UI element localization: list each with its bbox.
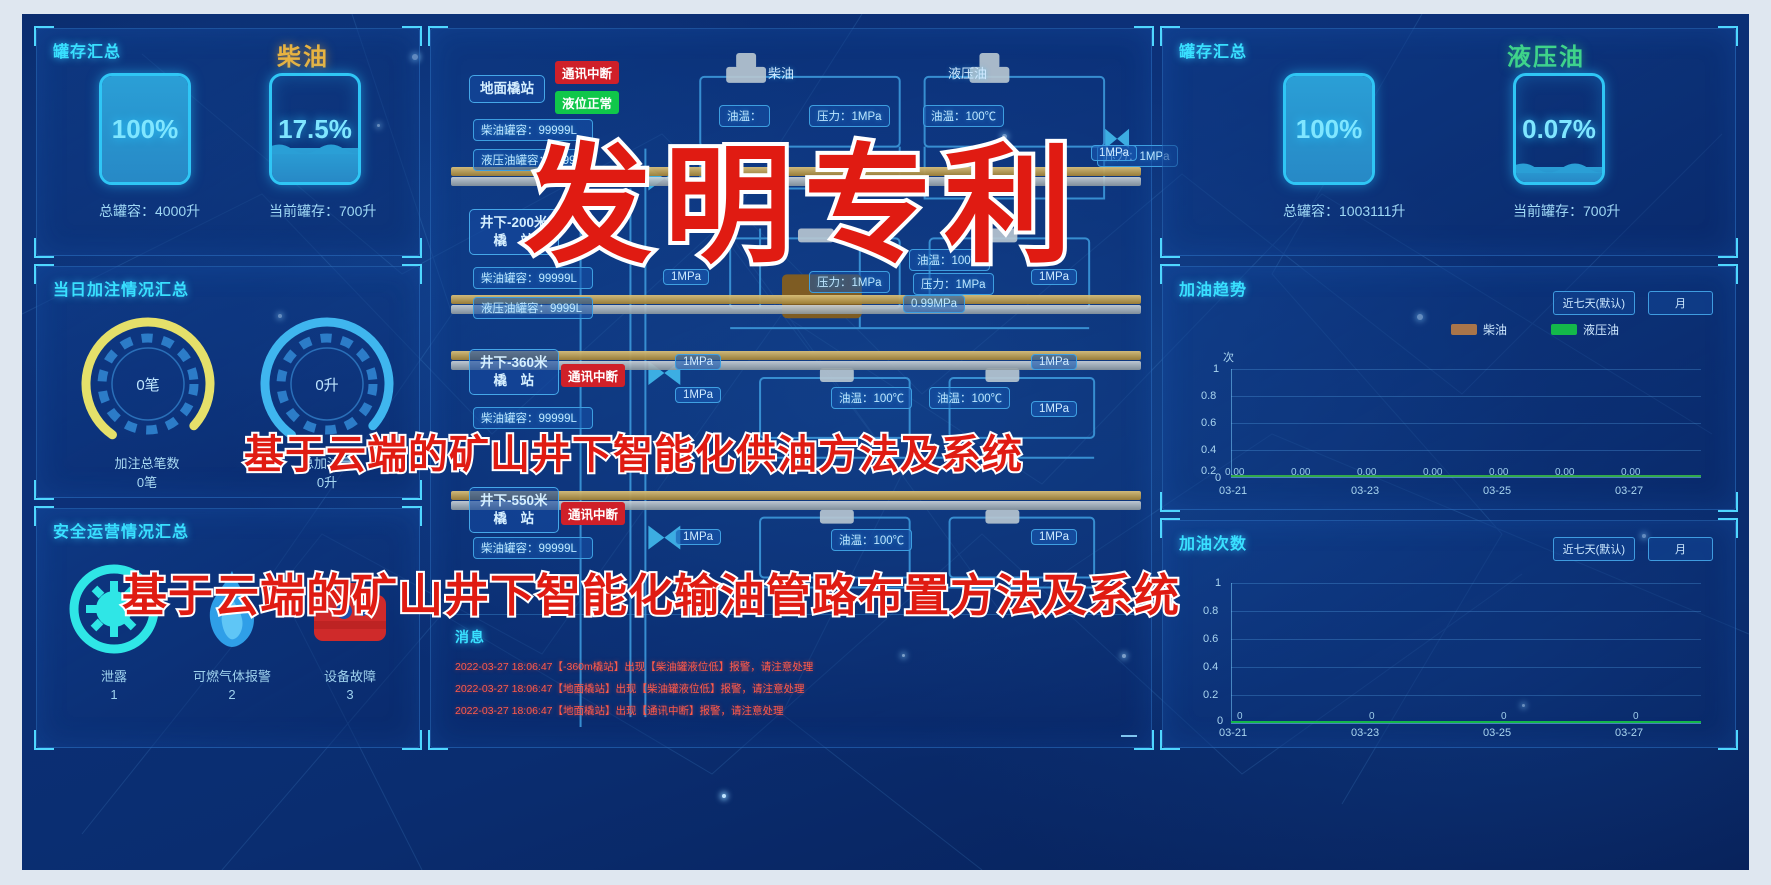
corner-decor [1160, 264, 1180, 284]
gridline [1231, 639, 1701, 640]
current-tank-gauge: 0.07% [1513, 73, 1605, 185]
station-tank-3-0: 柴油罐容：99999L [473, 537, 593, 559]
gridline [1231, 423, 1701, 424]
pressure-chip: 1MPa [675, 529, 721, 545]
range-button-month[interactable]: 月 [1648, 537, 1713, 561]
pressure-chip: 1MPa [675, 387, 721, 403]
corner-decor [402, 26, 422, 46]
corner-decor [402, 238, 422, 258]
corner-decor [1718, 518, 1738, 538]
legend-hydraulic[interactable]: 液压油 [1551, 321, 1619, 338]
total-tank-caption: 总罐容：1003111升 [1283, 201, 1405, 221]
safety-label: 设备故障 [295, 666, 405, 685]
message-row[interactable]: 2022-03-27 18:06:47【地面橇站】出现【通讯中断】报警，请注意处… [455, 703, 784, 718]
y-axis-line [1231, 369, 1232, 477]
y-axis-line [1231, 583, 1232, 723]
point-label: 0 [1501, 711, 1507, 722]
trend-plot-area [1231, 369, 1701, 477]
x-tick: 03-25 [1483, 485, 1511, 497]
pressure-chip: 1MPa [675, 354, 721, 370]
corner-decor [1718, 730, 1738, 750]
refuel-count-label: 加注总笔数 0笔 [57, 455, 237, 493]
current-tank-card: 0.07% 当前罐存：700升 [1513, 73, 1620, 221]
panel-title: 罐存汇总 [53, 38, 121, 62]
x-tick: 03-25 [1483, 727, 1511, 739]
y-tick: 0 [1217, 715, 1223, 727]
safety-value: 2 [177, 687, 287, 702]
current-tank-card: 17.5% 当前罐存：700升 [269, 73, 376, 221]
gridline [1231, 695, 1701, 696]
legend-label-hydraulic: 液压油 [1583, 321, 1619, 338]
x-tick: 03-23 [1351, 485, 1379, 497]
gridline [1231, 450, 1701, 451]
y-axis-title: 次 [1223, 349, 1234, 365]
station-label-surface[interactable]: 地面橇站 [469, 75, 545, 103]
corner-decor [1718, 264, 1738, 284]
corner-decor [402, 506, 422, 526]
equipment-label-hydraulic: 液压油 [941, 61, 994, 84]
refuel-count-value: 0笔 [73, 309, 223, 459]
x-tick: 03-23 [1351, 727, 1379, 739]
current-tank-percent: 17.5% [272, 76, 358, 182]
y-tick: 0.6 [1201, 417, 1216, 429]
safety-label: 可燃气体报警 [177, 666, 287, 685]
point-label: 0.00 [1291, 467, 1310, 478]
point-label: 0 [1633, 711, 1639, 722]
legend-swatch-diesel [1451, 324, 1477, 335]
panel-title: 安全运营情况汇总 [53, 518, 189, 542]
readout-pressure-5: 0.99MPa [903, 295, 965, 313]
point-label: 0.00 [1423, 467, 1442, 478]
x-tick: 03-21 [1219, 485, 1247, 497]
message-panel: 消息 2022-03-27 18:06:47【-360m橇站】出现【柴油罐液位低… [447, 614, 1137, 734]
watermark-title-line1: 基于云端的矿山井下智能化供油方法及系统 [244, 422, 1023, 480]
range-button-week[interactable]: 近七天(默认) [1553, 537, 1635, 561]
y-tick: 0 [1215, 472, 1221, 484]
pressure-chip: 1MPa [1031, 354, 1077, 370]
legend-label-diesel: 柴油 [1483, 321, 1507, 338]
right-count-panel: 加油次数 近七天(默认) 月 1 0.8 0.6 0.4 0.2 0 0 0 0… [1162, 520, 1736, 748]
point-label: 0 [1237, 711, 1243, 722]
gridline [1231, 667, 1701, 668]
range-button-month[interactable]: 月 [1648, 291, 1713, 315]
total-tank-percent: 100% [1286, 76, 1372, 182]
x-tick: 03-27 [1615, 485, 1643, 497]
message-panel-title: 消息 [455, 627, 485, 647]
current-tank-caption: 当前罐存：700升 [1513, 201, 1620, 221]
right-trend-panel: 加油趋势 近七天(默认) 月 柴油 液压油 次 1 0.8 0.6 0.4 [1162, 266, 1736, 510]
readout-oiltemp-6: 油温：100℃ [831, 529, 912, 551]
point-label: 0.00 [1621, 467, 1640, 478]
corner-decor [34, 26, 54, 46]
current-tank-caption: 当前罐存：700升 [269, 201, 376, 221]
corner-decor [34, 264, 54, 284]
total-tank-card: 100% 总罐容：4000升 [99, 73, 200, 221]
point-label: 0 [1369, 711, 1375, 722]
safety-label: 泄露 [59, 666, 169, 685]
corner-decor [1160, 26, 1180, 46]
gridline [1231, 611, 1701, 612]
point-label: 0.00 [1489, 467, 1508, 478]
count-plot-area [1231, 583, 1701, 723]
corner-decor [34, 480, 54, 500]
point-label: 0.00 [1357, 467, 1376, 478]
fuel-type-headline: 柴油 [277, 37, 329, 72]
total-tank-percent: 100% [102, 76, 188, 182]
legend-diesel[interactable]: 柴油 [1451, 321, 1507, 338]
panel-title: 当日加注情况汇总 [53, 276, 189, 300]
current-tank-gauge: 17.5% [269, 73, 361, 185]
page-root: 罐存汇总 柴油 100% 总罐容：4000升 17.5% 当前罐存：700升 [0, 0, 1771, 885]
left-safety-panel: 安全运营情况汇总 泄露 1 可 [36, 508, 420, 748]
dashboard-screen: 罐存汇总 柴油 100% 总罐容：4000升 17.5% 当前罐存：700升 [22, 14, 1749, 870]
panel-title: 加油趋势 [1179, 276, 1247, 300]
total-tank-gauge: 100% [1283, 73, 1375, 185]
panel-title: 罐存汇总 [1179, 38, 1247, 62]
pressure-chip: 1MPa [1091, 145, 1137, 161]
safety-value: 3 [295, 687, 405, 702]
station-label-360m[interactable]: 井下-360米 橇 站 [469, 349, 559, 395]
readout-oiltemp-4: 油温：100℃ [831, 387, 912, 409]
series-line-hydraulic [1231, 721, 1701, 723]
readout-oiltemp-5: 油温：100℃ [929, 387, 1010, 409]
total-tank-card: 100% 总罐容：1003111升 [1283, 73, 1405, 221]
collapse-icon[interactable] [1121, 735, 1137, 737]
point-label: 0.00 [1555, 467, 1574, 478]
watermark-patent: 发明专利 [524, 102, 1084, 287]
corner-decor [34, 506, 54, 526]
range-button-week[interactable]: 近七天(默认) [1553, 291, 1635, 315]
station-tank-1-1: 液压油罐容：9999L [473, 297, 593, 319]
y-tick: 1 [1215, 577, 1221, 589]
y-tick: 0.2 [1201, 465, 1216, 477]
legend-swatch-hydraulic [1551, 324, 1577, 335]
point-label: 0.00 [1225, 467, 1244, 478]
safety-value: 1 [59, 687, 169, 702]
y-tick: 0.4 [1201, 444, 1216, 456]
corner-decor [1718, 238, 1738, 258]
corner-decor [1160, 730, 1180, 750]
corner-decor [402, 264, 422, 284]
corner-decor [1160, 238, 1180, 258]
message-row[interactable]: 2022-03-27 18:06:47【地面橇站】出现【柴油罐液位低】报警，请注… [455, 681, 805, 696]
pressure-chip: 1MPa [1031, 529, 1077, 545]
y-tick: 0.4 [1203, 661, 1218, 673]
watermark-title-line2: 基于云端的矿山井下智能化输油管路布置方法及系统 [122, 559, 1180, 624]
total-tank-caption: 总罐容：4000升 [99, 201, 200, 221]
x-tick: 03-27 [1615, 727, 1643, 739]
station-badge-comm-0: 通讯中断 [555, 61, 619, 84]
gridline [1231, 396, 1701, 397]
x-tick: 03-21 [1219, 727, 1247, 739]
gridline [1231, 723, 1701, 724]
y-tick: 0.8 [1203, 605, 1218, 617]
refuel-count-gauge: 0笔 [73, 309, 223, 459]
fuel-type-headline: 液压油 [1507, 37, 1585, 72]
left-tank-panel: 罐存汇总 柴油 100% 总罐容：4000升 17.5% 当前罐存：700升 [36, 28, 420, 256]
corner-decor [1160, 518, 1180, 538]
corner-decor [34, 730, 54, 750]
y-tick: 0.2 [1203, 689, 1218, 701]
panel-title: 加油次数 [1179, 530, 1247, 554]
y-tick: 0.6 [1203, 633, 1218, 645]
corner-decor [34, 238, 54, 258]
message-row[interactable]: 2022-03-27 18:06:47【-360m橇站】出现【柴油罐液位低】报警… [455, 659, 813, 674]
equipment-label-diesel: 柴油 [761, 61, 801, 84]
y-tick: 0.8 [1201, 390, 1216, 402]
station-badge-comm-2: 通讯中断 [561, 364, 625, 387]
pressure-chip: 1MPa [1031, 401, 1077, 417]
total-tank-gauge: 100% [99, 73, 191, 185]
gridline [1231, 583, 1701, 584]
current-tank-percent: 0.07% [1516, 76, 1602, 182]
corner-decor [1160, 492, 1180, 512]
y-tick: 1 [1213, 363, 1219, 375]
corner-decor [402, 730, 422, 750]
station-badge-comm-3: 通讯中断 [561, 502, 625, 525]
gridline [1231, 369, 1701, 370]
right-tank-panel: 罐存汇总 液压油 100% 总罐容：1003111升 0.07% 当前罐存：70… [1162, 28, 1736, 256]
corner-decor [1718, 26, 1738, 46]
station-label-550m[interactable]: 井下-550米 橇 站 [469, 487, 559, 533]
corner-decor [1718, 492, 1738, 512]
